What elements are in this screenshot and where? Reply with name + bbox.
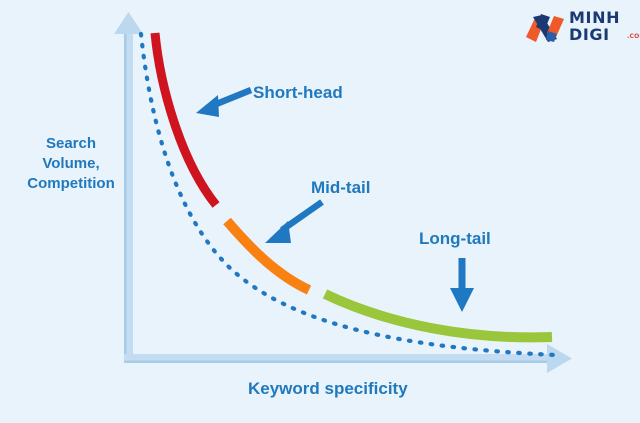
short-head-curve-segment bbox=[155, 33, 216, 205]
mid-tail-pointer-arrow-icon bbox=[265, 202, 322, 243]
logo-tld: .COM bbox=[627, 33, 640, 40]
seo-keyword-curve-chart bbox=[0, 0, 640, 423]
short-head-label: Short-head bbox=[253, 82, 343, 104]
long-tail-pointer-arrow-icon bbox=[450, 258, 474, 312]
y-axis-label: Search Volume, Competition bbox=[18, 134, 124, 193]
long-tail-curve-segment bbox=[325, 294, 552, 337]
mid-tail-label: Mid-tail bbox=[311, 177, 371, 199]
x-axis-arrowhead-icon bbox=[547, 344, 572, 373]
minhdigi-logo-text: MINH DIGI bbox=[569, 9, 633, 47]
minhdigi-logo-mark-icon bbox=[524, 11, 566, 45]
short-head-pointer-arrow-icon bbox=[196, 90, 251, 117]
y-axis-line-edge bbox=[124, 32, 127, 363]
y-axis-label-line-2: Volume, bbox=[42, 155, 99, 172]
y-axis-label-line-3: Competition bbox=[27, 175, 115, 192]
minhdigi-logo[interactable]: MINH DIGI .COM bbox=[524, 8, 632, 48]
y-axis-arrowhead-icon bbox=[114, 12, 143, 34]
long-tail-label: Long-tail bbox=[419, 228, 491, 250]
infographic-canvas: Search Volume, Competition Keyword speci… bbox=[0, 0, 640, 423]
x-axis-label: Keyword specificity bbox=[248, 378, 408, 400]
mid-tail-curve-segment bbox=[227, 221, 309, 290]
y-axis-label-line-1: Search bbox=[46, 135, 96, 152]
logo-word-minh: MINH bbox=[569, 9, 633, 26]
x-axis-line-edge bbox=[124, 361, 549, 364]
logo-word-digi: DIGI bbox=[569, 26, 633, 43]
